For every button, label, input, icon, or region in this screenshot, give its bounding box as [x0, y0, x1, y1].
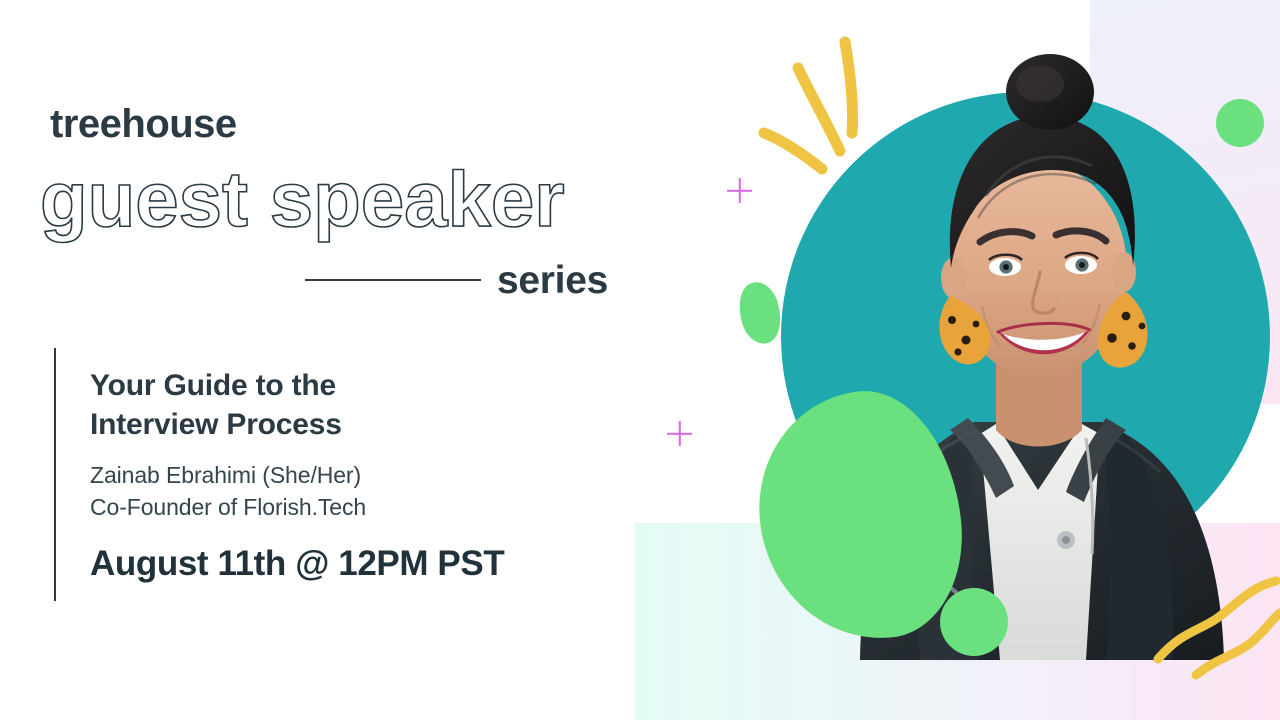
event-title: Your Guide to the Interview Process: [90, 366, 630, 444]
green-circle-bottom: [940, 588, 1008, 656]
event-datetime: August 11th @ 12PM PST: [90, 545, 630, 584]
green-blob-small: [732, 278, 788, 349]
headline-outline: guest speaker: [40, 160, 565, 238]
vertical-divider: [54, 348, 56, 601]
plus-mark-icon-top: [727, 178, 752, 203]
series-row: series: [305, 256, 625, 304]
series-divider: [305, 279, 481, 281]
brand-wordmark: treehouse: [50, 104, 237, 144]
event-info: Your Guide to the Interview Process Zain…: [90, 366, 630, 584]
speaker-info: Zainab Ebrahimi (She/Her) Co-Founder of …: [90, 460, 630, 523]
series-label: series: [497, 261, 608, 300]
plus-mark-icon-middle: [667, 421, 692, 446]
wavy-lines-icon: [1150, 575, 1280, 685]
promo-slide: treehouse guest speaker series Your Guid…: [0, 0, 1280, 720]
text-column: treehouse guest speaker series Your Guid…: [0, 0, 660, 720]
